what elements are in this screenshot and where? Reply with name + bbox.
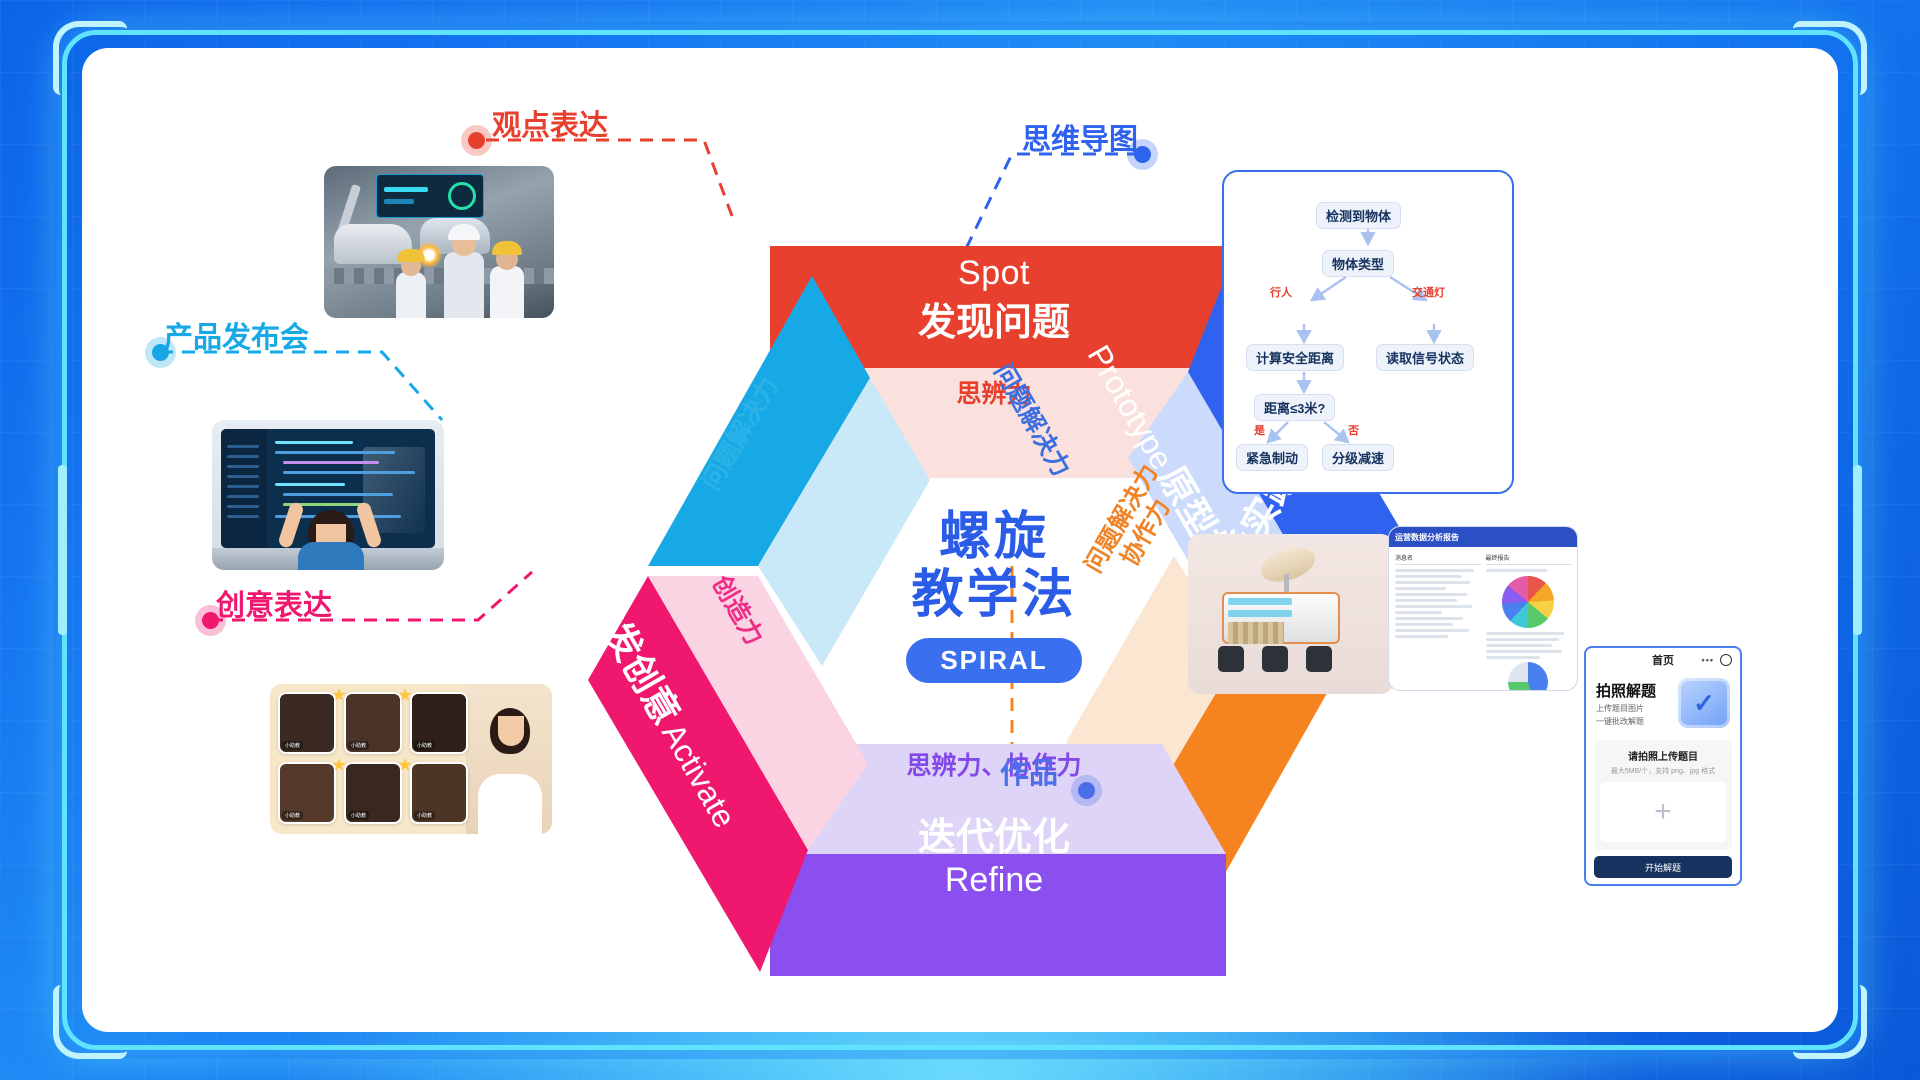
report-doc-columns: 消息名 最终报告	[1389, 547, 1577, 691]
kid-tile-3: 小助教	[410, 692, 468, 754]
callout-works-dot	[1078, 782, 1095, 799]
callout-works: 作品	[1000, 750, 1058, 792]
phone-check-cube-icon	[1678, 678, 1730, 728]
phone-close-icon[interactable]	[1720, 654, 1732, 666]
frame-notch-left	[58, 465, 67, 635]
hexagon-center: 螺旋 教学法 SPIRAL	[844, 508, 1144, 683]
factory-hud-bar1	[384, 187, 428, 192]
rover-stripe-2	[1228, 610, 1292, 617]
kid-tile-5: 小助教	[344, 762, 402, 824]
callout-mindmap: 思维导图	[1022, 116, 1138, 158]
photo-phone-app: 首页 ••• 拍照解题 上传题目图片 一键批改解题 请拍照上传题目 最大5MB/…	[1584, 646, 1742, 886]
factory-person-3	[396, 272, 426, 318]
report-pie-chart-2	[1508, 662, 1548, 691]
phone-hero-sub1: 上传题目图片	[1596, 703, 1656, 714]
factory-hud-panel	[376, 174, 484, 218]
report-doc-left-header: 消息名	[1395, 553, 1481, 565]
segment-refine-skill: 思辨力、协作力	[784, 746, 1204, 782]
rover-wheel-1	[1218, 646, 1244, 672]
mindmap-edge-light: 交通灯	[1412, 284, 1445, 300]
phone-start-button[interactable]: 开始解题	[1594, 856, 1732, 878]
student-body	[298, 542, 364, 570]
phone-hero: 拍照解题 上传题目图片 一键批改解题	[1586, 672, 1740, 734]
callout-creative-dot	[202, 612, 219, 629]
photo-rover-model	[1188, 534, 1393, 694]
mindmap-flowchart-card: 检测到物体 物体类型 行人 交通灯 计算安全距离 读取信号状态 距离≤3米? 是…	[1222, 170, 1514, 494]
phone-top-bar: 首页 •••	[1586, 648, 1740, 672]
content-card: Spot 发现问题 思辨力 Launch 产品发布 问题解决力 Prototyp…	[82, 48, 1838, 1032]
mindmap-node-safedist[interactable]: 计算安全距离	[1246, 344, 1344, 371]
callout-launch-event: 产品发布会	[164, 314, 309, 356]
factory-hud-gauge	[448, 182, 476, 210]
mindmap-edge-yes: 是	[1254, 422, 1265, 438]
rover-wheel-2	[1262, 646, 1288, 672]
mindmap-edge-no: 否	[1348, 422, 1359, 438]
mindmap-node-condition[interactable]: 距离≤3米?	[1254, 394, 1335, 421]
phone-upload-dropzone[interactable]: +	[1600, 782, 1726, 842]
kid-tile-6: 小助教	[410, 762, 468, 824]
photo-report-doc: 运营数据分析报告 消息名 最终报告	[1388, 526, 1578, 691]
factory-person-2	[490, 266, 524, 318]
phone-hero-title: 拍照解题	[1596, 680, 1656, 701]
center-title-line2: 教学法	[844, 566, 1144, 624]
mindmap-node-type[interactable]: 物体类型	[1322, 250, 1394, 277]
mindmap-node-slow[interactable]: 分级减速	[1322, 444, 1394, 471]
photo-kids-collage: 小助教 小助教 小助教 小助教 小助教 小助教	[270, 684, 552, 834]
factory-person-1	[444, 252, 484, 318]
mindmap-node-brake[interactable]: 紧急制动	[1236, 444, 1308, 471]
callout-viewpoint-dot	[468, 132, 485, 149]
phone-upload-title: 请拍照上传题目	[1600, 748, 1726, 763]
phone-menu-icon[interactable]: •••	[1702, 655, 1714, 665]
teacher-portrait	[466, 684, 552, 834]
rover-solar-panel	[1228, 622, 1284, 644]
phone-tab-home[interactable]: 首页	[1652, 652, 1674, 668]
mindmap-edge-pedestrian: 行人	[1270, 284, 1292, 300]
photo-factory	[324, 166, 554, 318]
report-doc-right-header: 最终报告	[1486, 553, 1572, 565]
callout-creative: 创意表达	[216, 582, 332, 624]
callout-viewpoint: 观点表达	[492, 102, 608, 144]
frame-notch-right	[1853, 465, 1862, 635]
rover-wheel-3	[1306, 646, 1332, 672]
phone-upload-card: 请拍照上传题目 最大5MB/个，支持 png、jpg 格式 +	[1594, 740, 1732, 850]
photo-code-screen	[212, 420, 444, 570]
kid-tile-1: 小助教	[278, 692, 336, 754]
kid-tile-4: 小助教	[278, 762, 336, 824]
mindmap-node-signal[interactable]: 读取信号状态	[1376, 344, 1474, 371]
phone-hero-sub2: 一键批改解题	[1596, 716, 1656, 727]
report-doc-title: 运营数据分析报告	[1389, 527, 1577, 547]
mindmap-node-detect[interactable]: 检测到物体	[1316, 202, 1401, 229]
report-doc-left-col: 消息名	[1395, 553, 1481, 691]
center-title-line1: 螺旋	[844, 508, 1144, 566]
center-badge: SPIRAL	[906, 638, 1081, 683]
factory-hud-bar2	[384, 199, 414, 204]
callout-launch-event-dot	[152, 344, 169, 361]
kid-tile-2: 小助教	[344, 692, 402, 754]
rover-stripe-1	[1228, 598, 1292, 605]
callout-mindmap-dot	[1134, 146, 1151, 163]
report-pie-chart-1	[1502, 576, 1554, 628]
phone-upload-hint: 最大5MB/个，支持 png、jpg 格式	[1600, 766, 1726, 776]
report-doc-right-col: 最终报告	[1486, 553, 1572, 691]
